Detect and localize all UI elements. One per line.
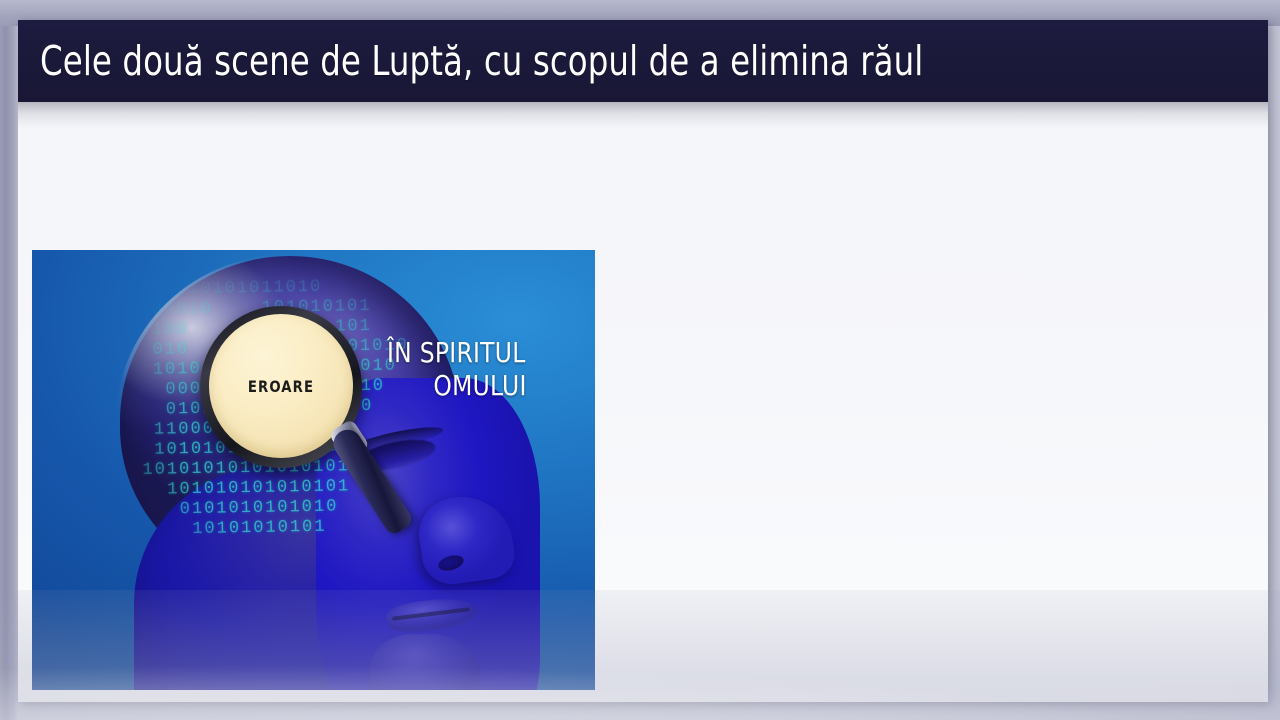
image-caption: ÎN SPIRITUL OMULUI bbox=[387, 336, 573, 402]
image-caption-line-1: ÎN SPIRITUL bbox=[387, 336, 573, 369]
image-canvas: 1010101011010 00010 101010101 100 0001 1… bbox=[32, 250, 595, 690]
presentation-slide: Cele două scene de Luptă, cu scopul de a… bbox=[18, 20, 1268, 702]
image-caption-line-2: OMULUI bbox=[387, 369, 573, 402]
title-bar-shadow bbox=[18, 102, 1268, 128]
slide-title-bar: Cele două scene de Luptă, cu scopul de a… bbox=[18, 20, 1268, 102]
magnifier-lens-label: EROARE bbox=[248, 377, 314, 396]
magnifier-icon: EROARE bbox=[200, 306, 362, 468]
slide-title: Cele două scene de Luptă, cu scopul de a… bbox=[40, 37, 923, 85]
slide-image[interactable]: 1010101011010 00010 101010101 100 0001 1… bbox=[32, 250, 595, 690]
desktop-backdrop: Cele două scene de Luptă, cu scopul de a… bbox=[0, 0, 1280, 720]
